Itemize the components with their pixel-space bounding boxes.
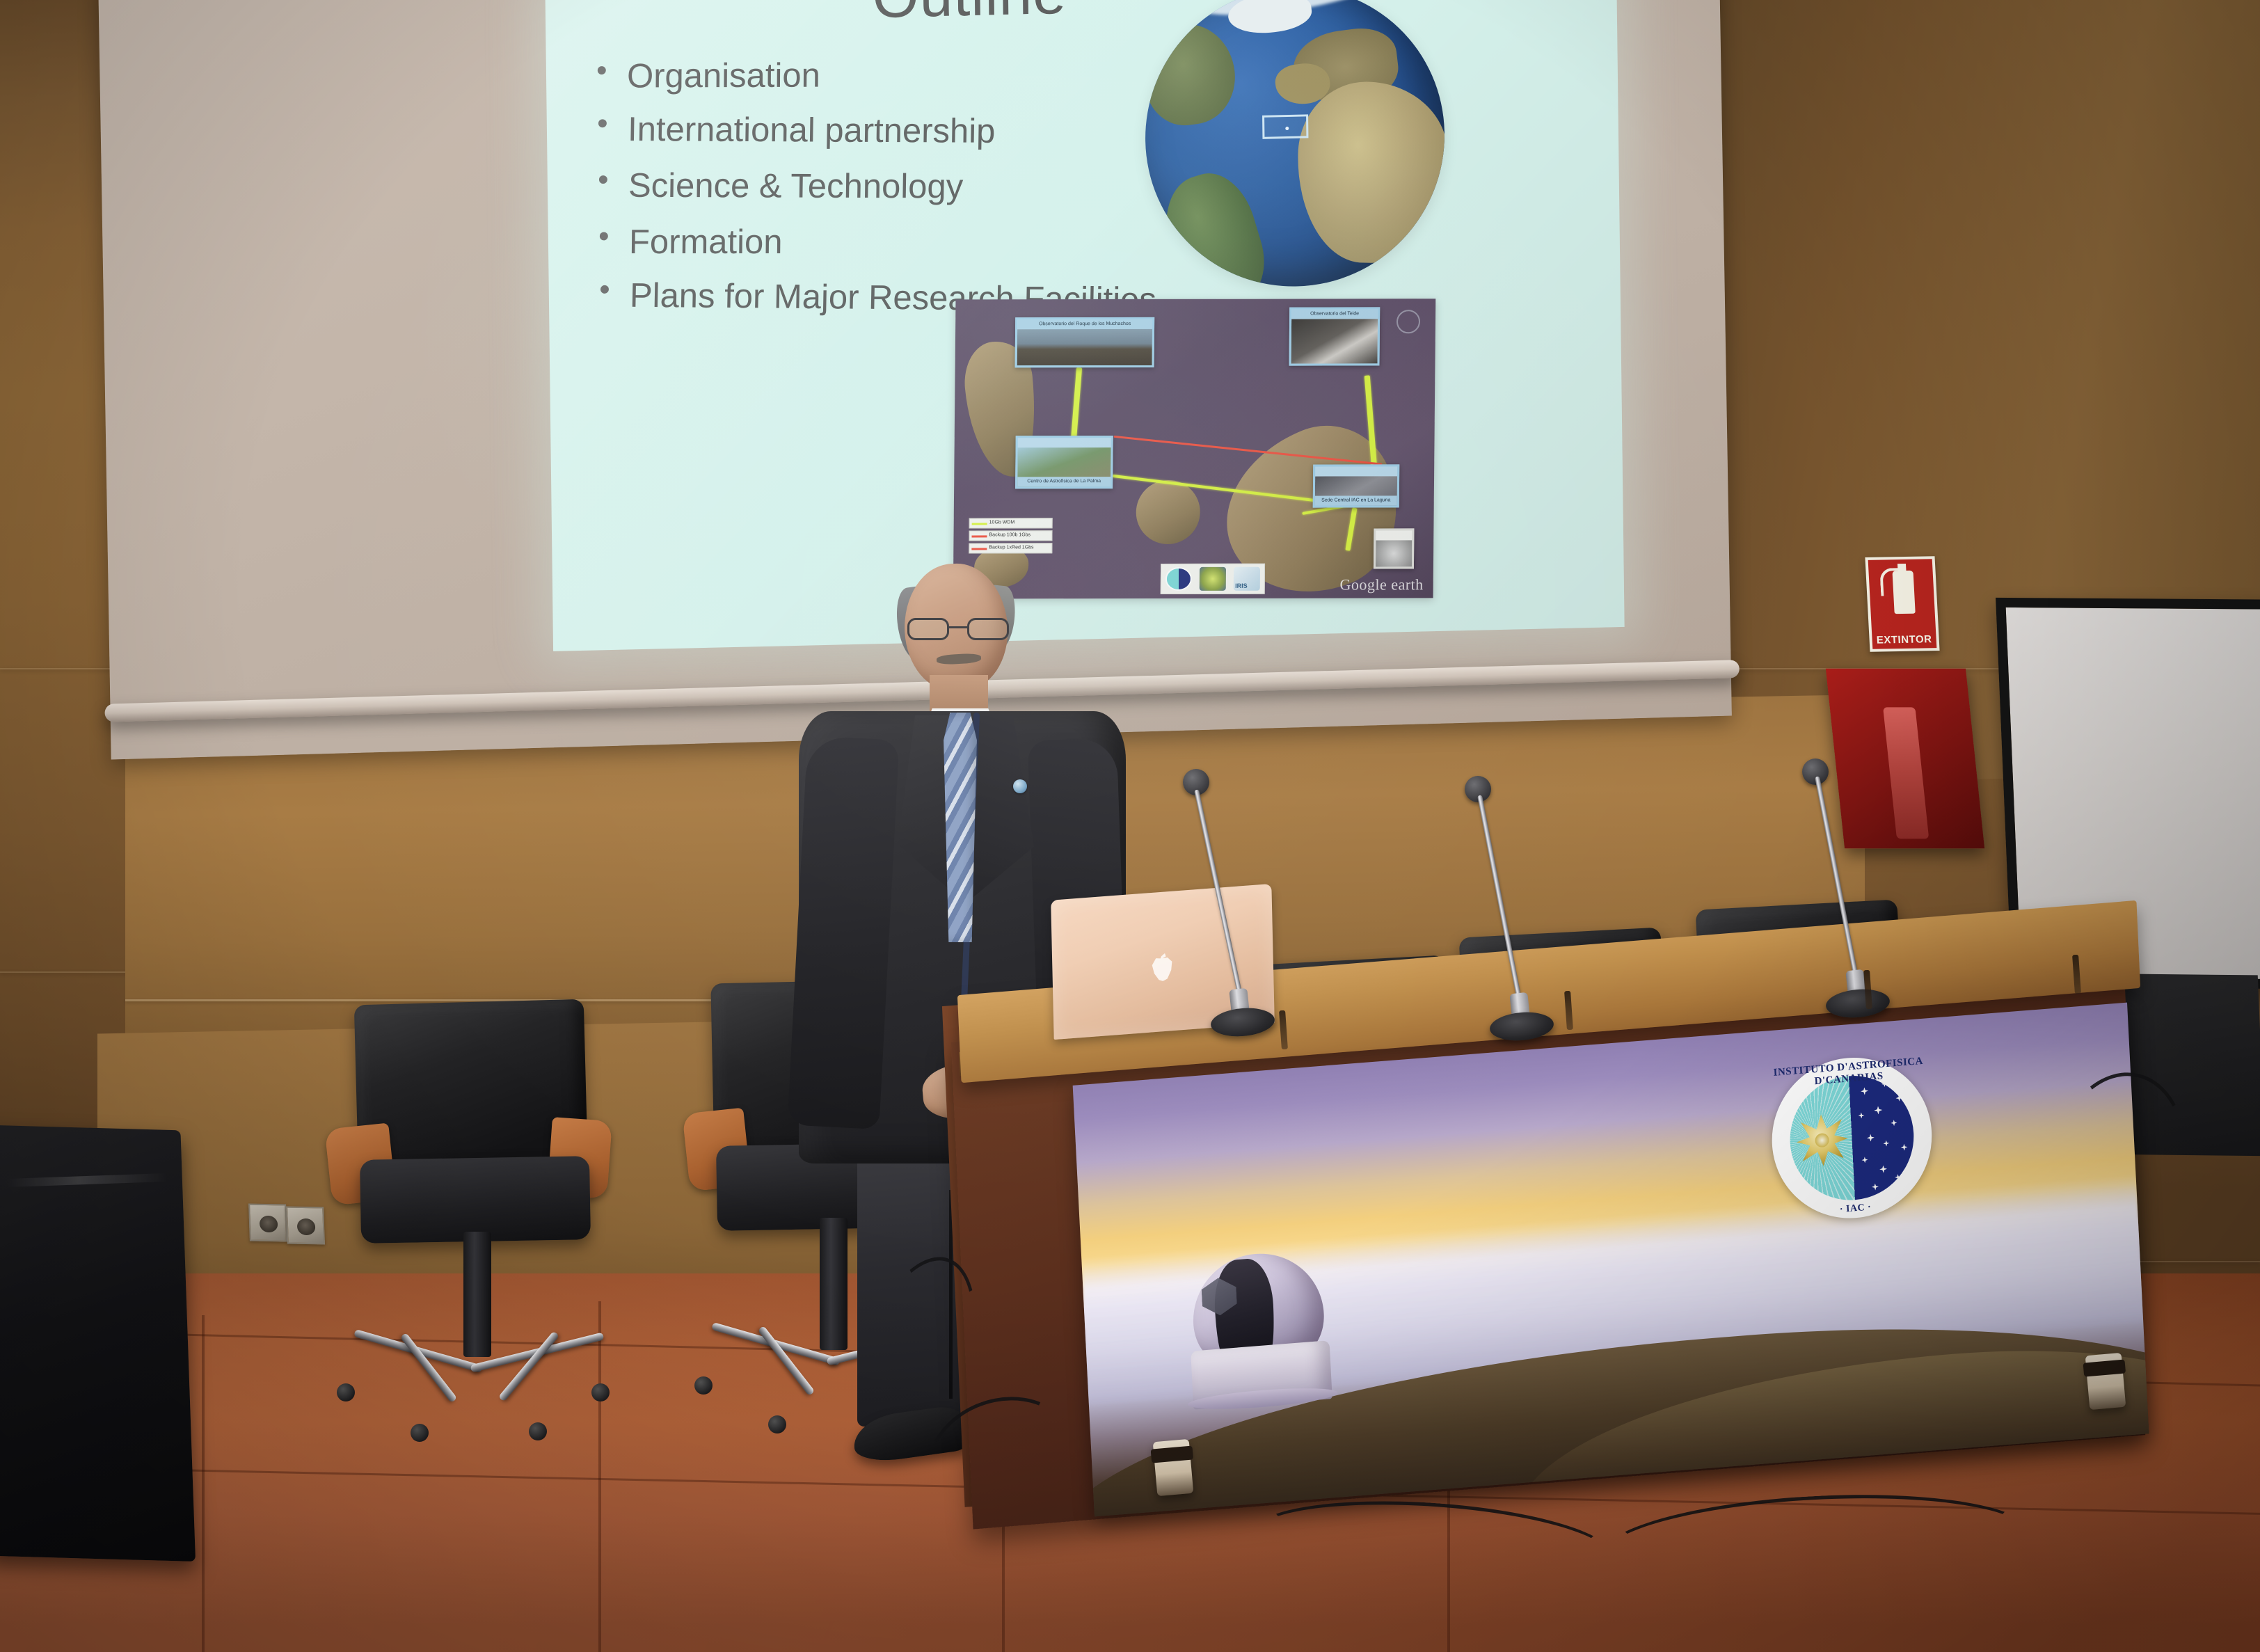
map-thumbnail-la-laguna: Sede Central IAC en La Laguna [1313, 464, 1400, 507]
office-chair[interactable] [320, 1002, 619, 1489]
canary-islands-marker [1285, 127, 1289, 130]
map-legend: 10Gb WDM Backup 100b 1Gbs Backup 1xRed 1… [969, 518, 1052, 555]
legend-label: Backup 1xRed 1Gbs [989, 545, 1033, 550]
chair-caster [591, 1383, 610, 1401]
conference-hall-photo: Outline Organisation International partn… [0, 0, 2260, 1652]
compass-icon [1396, 310, 1420, 333]
map-thumbnail-orm: Observatorio del Roque de los Muchachos [1015, 317, 1155, 367]
slide-bullet: International partnership [591, 111, 1218, 152]
extinguisher-sign-label: EXTINTOR [1873, 633, 1935, 646]
slide-bullet: Organisation [591, 56, 1217, 96]
logo-text-top: INSTITUTO D'ASTROFISICA D'CANARIAS [1768, 1055, 1929, 1091]
north-america-landmass [1138, 18, 1240, 129]
map-thumbnail-image [1376, 540, 1412, 566]
chair-leg [498, 1331, 559, 1401]
legend-swatch [971, 535, 987, 537]
island-la-gomera [1136, 480, 1200, 544]
map-legend-row: Backup 1xRed 1Gbs [969, 543, 1052, 553]
africa-landmass [1296, 81, 1449, 264]
canarias-logo-icon [1200, 567, 1226, 591]
canary-islands-network-map: Observatorio del Roque de los Muchachos … [953, 299, 1436, 598]
map-thumbnail-teide: Observatorio del Teide [1289, 307, 1380, 365]
greenland-landmass [1226, 0, 1314, 38]
chair-leg [400, 1333, 458, 1403]
iac-logo: INSTITUTO D'ASTROFISICA D'CANARIAS · IAC… [1768, 1051, 1936, 1224]
telescope-dome [1186, 1248, 1332, 1419]
map-thumbnail-caption: Observatorio del Roque de los Muchachos [1017, 319, 1152, 329]
slide-title: Outline [872, 0, 1067, 32]
extinguisher-sign: EXTINTOR [1865, 556, 1939, 652]
map-legend-row: Backup 100b 1Gbs [969, 530, 1052, 541]
map-thumbnail-caption: Centro de Astrofisica de La Palma [1017, 477, 1111, 486]
chair-seat [360, 1156, 591, 1244]
glasses-lens-right [967, 618, 1009, 640]
banner-foot [2085, 1353, 2126, 1410]
map-thumbnail-image [1017, 329, 1152, 365]
logo-lettering: INSTITUTO D'ASTROFISICA D'CANARIAS · IAC… [1768, 1051, 1936, 1224]
map-legend-row: 10Gb WDM [969, 518, 1053, 528]
legend-label: 10Gb WDM [989, 520, 1015, 525]
slide-bullet-list: Organisation International partnership S… [591, 50, 1220, 342]
fire-extinguisher-cabinet [1826, 669, 1984, 849]
google-earth-watermark: Google earth [1339, 575, 1423, 594]
chair-caster [768, 1415, 786, 1433]
projected-slide: Outline Organisation International partn… [545, 0, 1624, 651]
map-logo-strip [1161, 564, 1265, 594]
legend-label: Backup 100b 1Gbs [989, 532, 1030, 537]
map-thumbnail-image [1291, 319, 1378, 363]
earth-globe-graphic [1129, 0, 1461, 304]
map-thumbnail-extra [1374, 528, 1414, 569]
iris-logo-icon [1234, 567, 1260, 591]
chair-caster [529, 1422, 547, 1440]
wall-outlet[interactable] [286, 1207, 325, 1245]
iac-table-banner: INSTITUTO D'ASTROFISICA D'CANARIAS · IAC… [1073, 1003, 2149, 1517]
chair-caster [337, 1383, 355, 1401]
canary-islands-highlight-box [1262, 114, 1308, 138]
slide-bullet: Science & Technology [592, 167, 1218, 207]
wall-outlet[interactable] [248, 1204, 287, 1242]
glasses-bridge [949, 626, 967, 628]
map-thumbnail-caption: Observatorio del Teide [1291, 309, 1378, 319]
lapel-pin [1013, 779, 1027, 793]
legend-swatch [972, 523, 987, 525]
map-thumbnail-calp: Centro de Astrofisica de La Palma [1015, 436, 1113, 489]
glasses-lens-left [907, 618, 949, 640]
chair-caster [694, 1376, 713, 1395]
map-thumbnail-caption: Sede Central IAC en La Laguna [1315, 495, 1397, 505]
floor-tile-seam [202, 1315, 205, 1652]
chair-gas-cylinder [463, 1232, 491, 1357]
fire-extinguisher-icon [1892, 571, 1915, 614]
banner-foot [1153, 1439, 1194, 1496]
left-monitor-panel [0, 1125, 196, 1562]
eyeglasses [906, 618, 1010, 642]
slide-bullet: Formation [593, 224, 1219, 262]
extinguisher-sign-face: EXTINTOR [1868, 559, 1937, 649]
chair-caster [411, 1424, 429, 1442]
iac-logo-icon [1165, 567, 1191, 591]
legend-swatch [971, 548, 987, 550]
